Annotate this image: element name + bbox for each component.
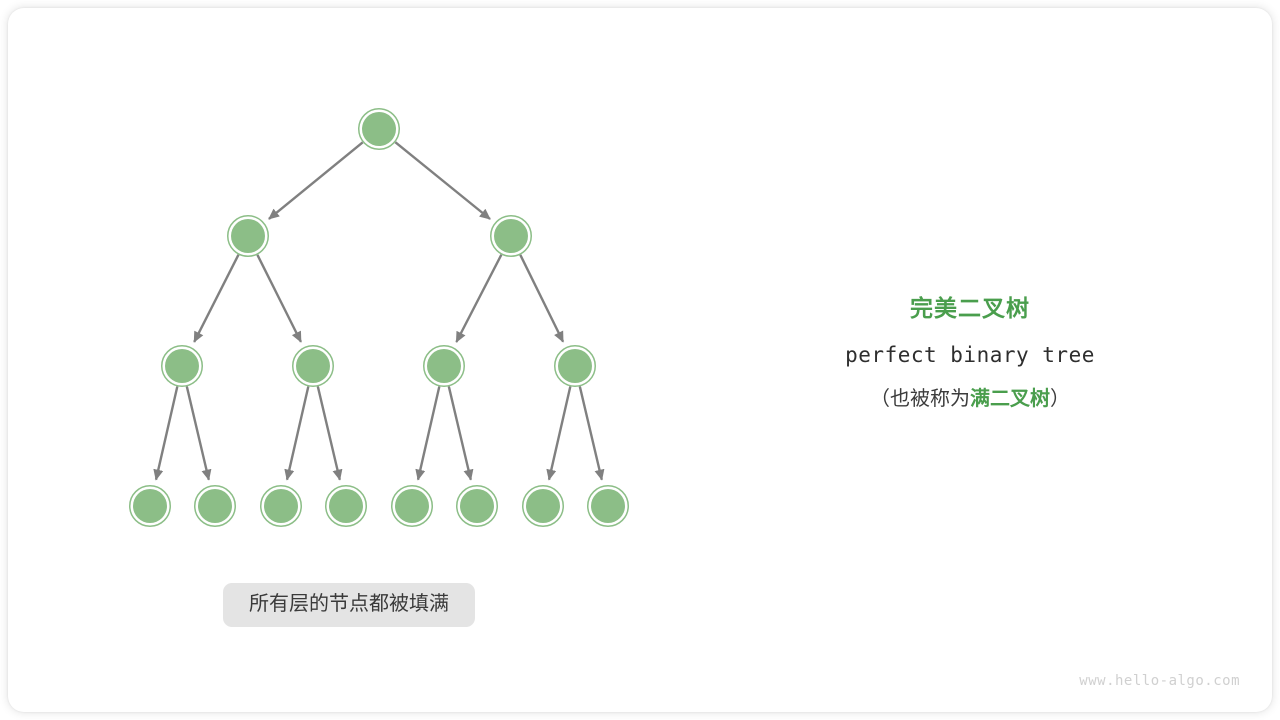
legend-alias: （也被称为满二叉树） <box>790 384 1150 414</box>
tree-node <box>523 486 563 526</box>
tree-edge <box>456 255 501 342</box>
tree-edge <box>187 386 209 479</box>
legend-block: 完美二叉树 perfect binary tree （也被称为满二叉树） <box>790 292 1150 414</box>
tree-node <box>555 346 595 386</box>
tree-node <box>392 486 432 526</box>
tree-node-fill <box>362 112 396 146</box>
diagram-stage: 完美二叉树 perfect binary tree （也被称为满二叉树） 所有层… <box>0 0 1280 720</box>
tree-node <box>588 486 628 526</box>
tree-node-fill <box>526 489 560 523</box>
tree-node <box>261 486 301 526</box>
watermark-text: www.hello-algo.com <box>1079 673 1240 689</box>
tree-node <box>293 346 333 386</box>
tree-edge <box>520 255 563 342</box>
tree-edge <box>194 255 238 342</box>
tree-node <box>195 486 235 526</box>
tree-edge <box>449 386 471 479</box>
tree-edge <box>580 386 602 479</box>
tree-node <box>130 486 170 526</box>
tree-node-fill <box>494 219 528 253</box>
legend-alias-suffix: ） <box>1050 388 1070 410</box>
tree-node-fill <box>427 349 461 383</box>
tree-node <box>162 346 202 386</box>
tree-node <box>359 109 399 149</box>
tree-node-fill <box>296 349 330 383</box>
tree-node-fill <box>165 349 199 383</box>
caption-badge: 所有层的节点都被填满 <box>223 583 475 627</box>
tree-edge-layer <box>156 142 602 480</box>
tree-node <box>491 216 531 256</box>
tree-node-fill <box>558 349 592 383</box>
tree-node-fill <box>133 489 167 523</box>
tree-edge <box>549 386 570 479</box>
tree-edge <box>287 386 308 479</box>
tree-node-fill <box>231 219 265 253</box>
tree-edge <box>418 386 439 479</box>
legend-subtitle: perfect binary tree <box>790 340 1150 370</box>
tree-edge <box>269 142 363 219</box>
tree-node <box>326 486 366 526</box>
tree-edge <box>156 386 177 479</box>
tree-node-fill <box>198 489 232 523</box>
legend-alias-emphasis: 满二叉树 <box>970 388 1050 410</box>
tree-node-fill <box>264 489 298 523</box>
tree-node <box>457 486 497 526</box>
legend-alias-prefix: （也被称为 <box>870 388 970 410</box>
tree-node <box>228 216 268 256</box>
tree-node-fill <box>329 489 363 523</box>
tree-node <box>424 346 464 386</box>
tree-node-fill <box>395 489 429 523</box>
tree-edge <box>318 386 340 479</box>
tree-node-fill <box>460 489 494 523</box>
legend-title: 完美二叉树 <box>790 292 1150 324</box>
tree-edge <box>395 142 490 219</box>
tree-edge <box>257 255 301 342</box>
tree-node-fill <box>591 489 625 523</box>
